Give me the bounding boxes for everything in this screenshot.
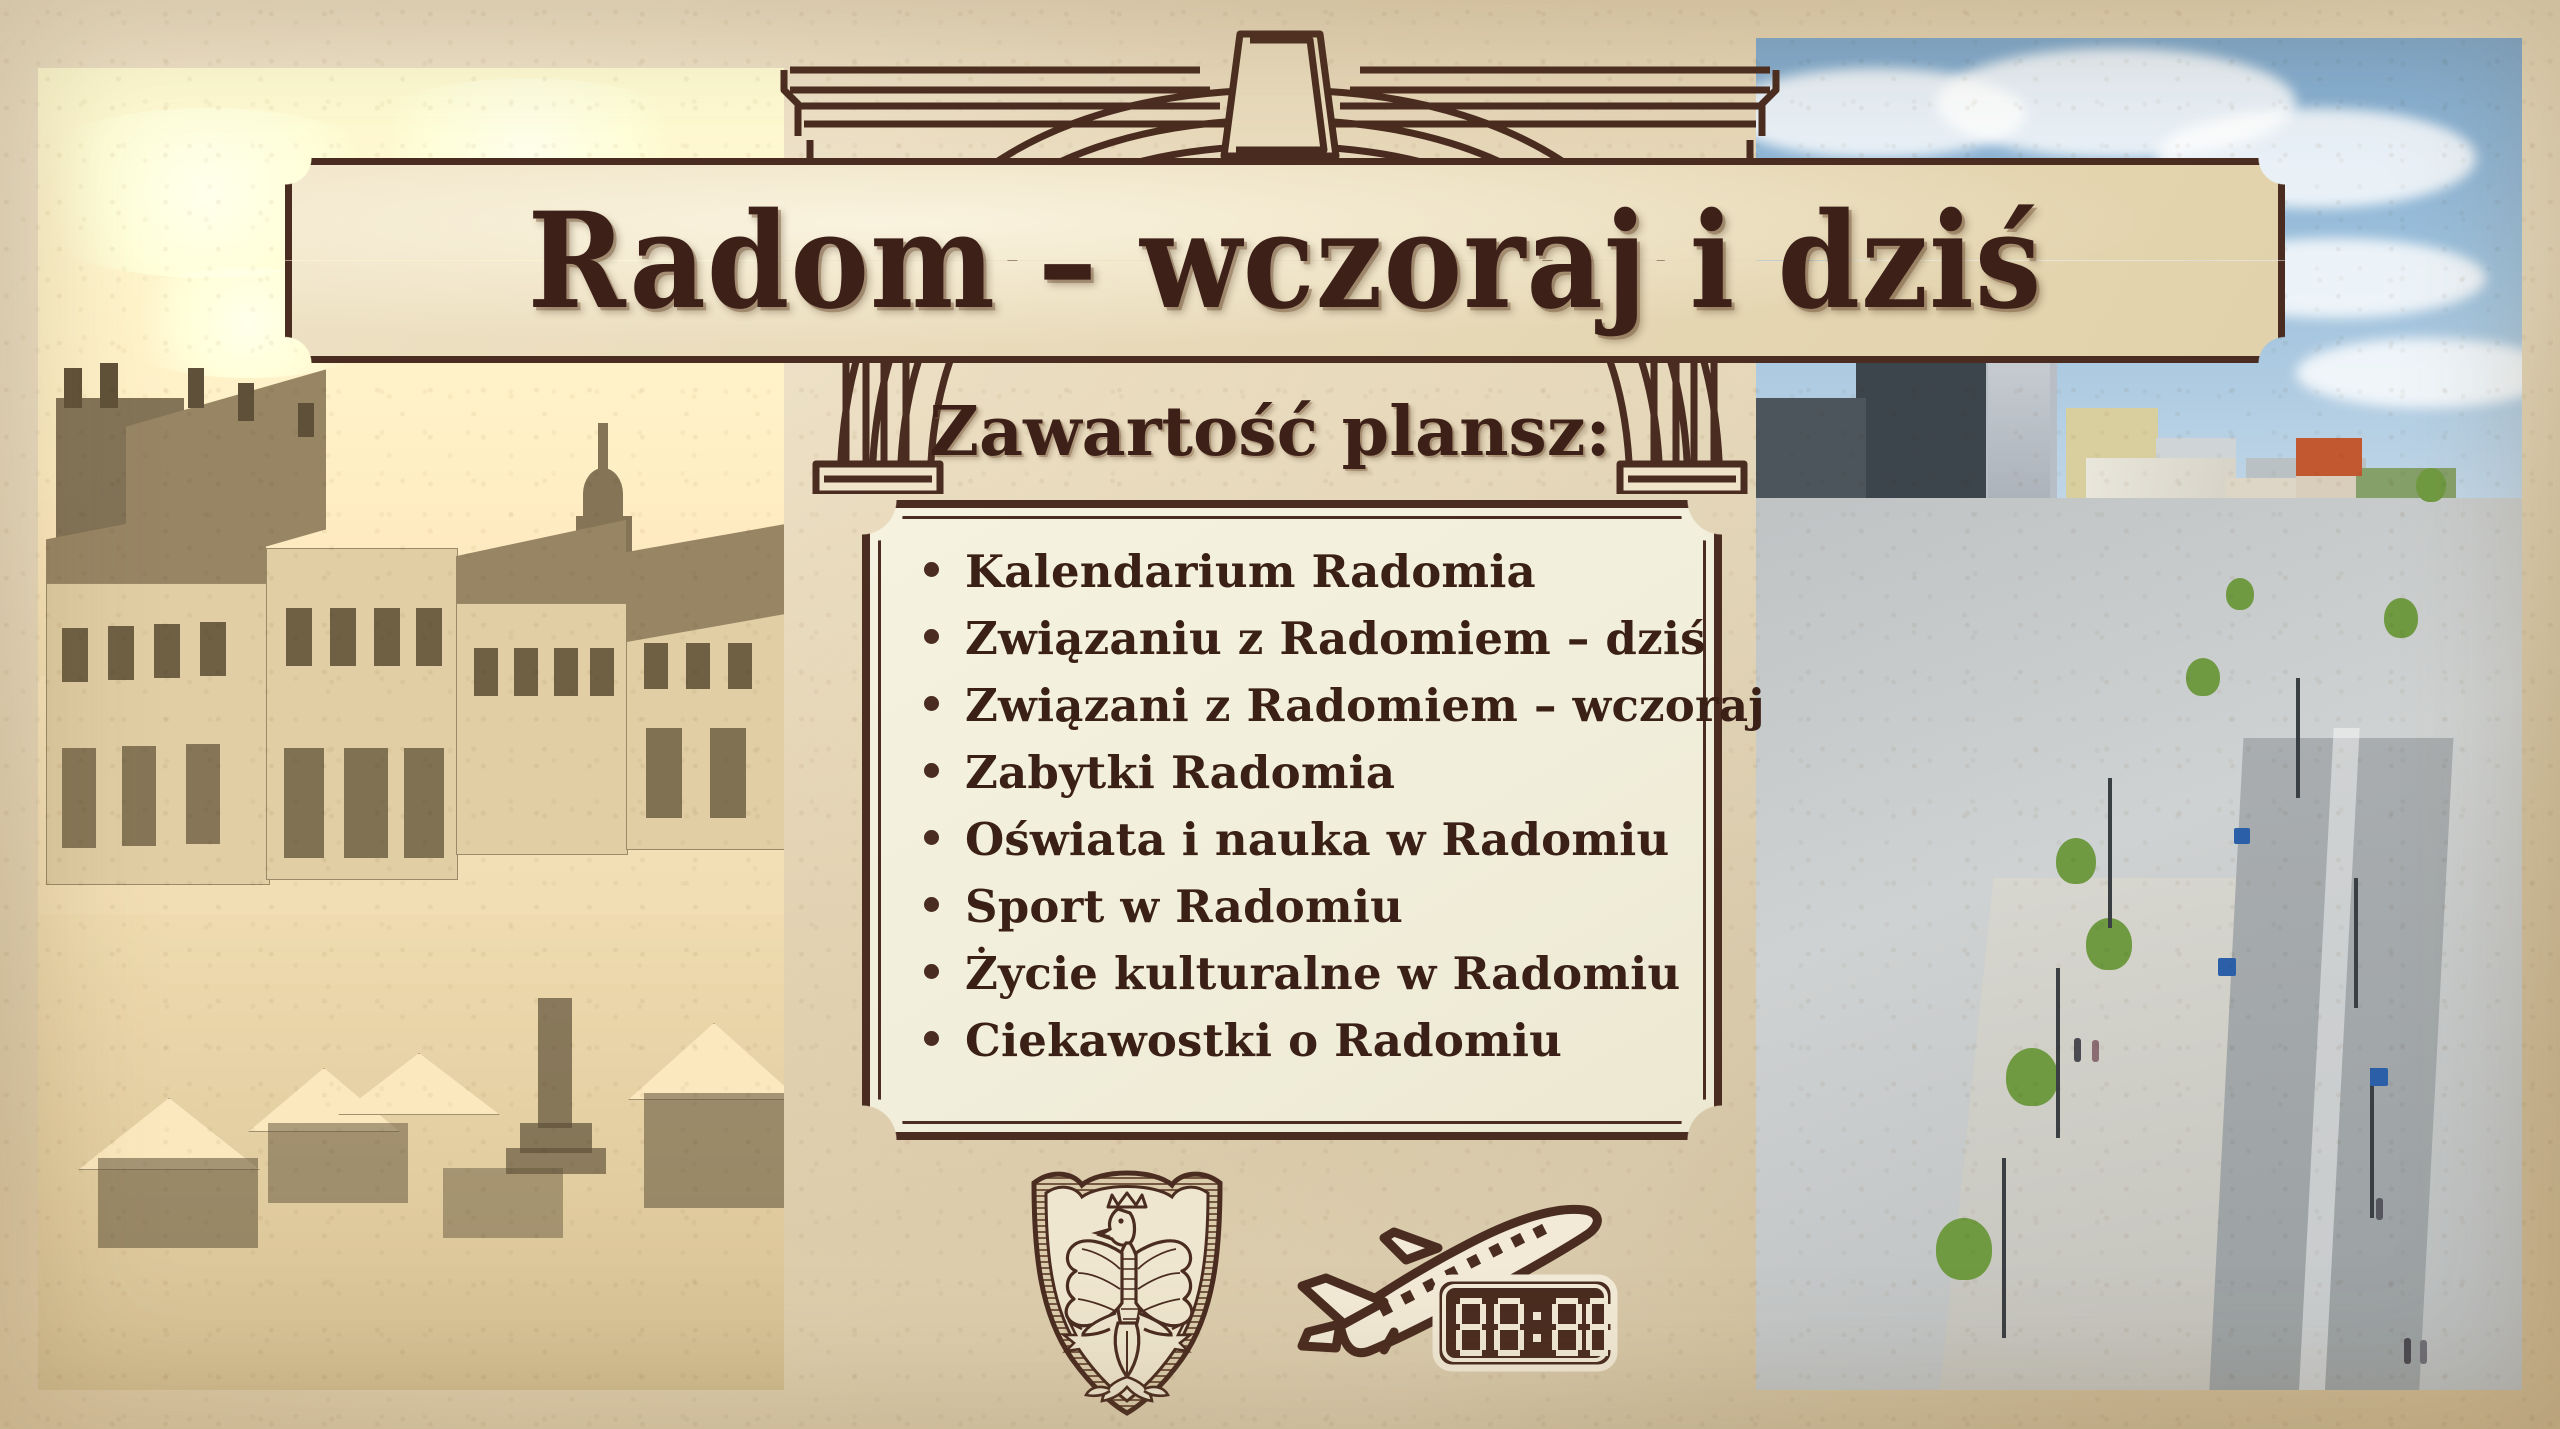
- coat-of-arms-icon: [1022, 1163, 1232, 1418]
- bullet-icon: [924, 696, 939, 711]
- list-item: Związaniu z Radomiem – dziś: [924, 605, 1698, 672]
- contents-heading: Zawartość plansz:: [870, 392, 1670, 472]
- contents-list: Kalendarium Radomia Związaniu z Radomiem…: [924, 538, 1698, 1074]
- contents-box: Kalendarium Radomia Związaniu z Radomiem…: [862, 500, 1722, 1140]
- list-item: Związani z Radomiem – wczoraj: [924, 672, 1698, 739]
- airplane-clock-icon: 00:00: [1288, 1182, 1623, 1377]
- poster-root: Radom – wczoraj i dziś Zawartość plansz:…: [0, 0, 2560, 1429]
- title-banner: Radom – wczoraj i dziś: [285, 158, 2285, 363]
- list-item: Kalendarium Radomia: [924, 538, 1698, 605]
- bullet-icon: [924, 763, 939, 778]
- bullet-icon: [924, 964, 939, 979]
- list-item: Życie kulturalne w Radomiu: [924, 940, 1698, 1007]
- list-item: Ciekawostki o Radomiu: [924, 1007, 1698, 1074]
- bullet-icon: [924, 830, 939, 845]
- bullet-icon: [924, 629, 939, 644]
- list-item: Sport w Radomiu: [924, 873, 1698, 940]
- page-title: Radom – wczoraj i dziś: [285, 146, 2285, 376]
- bullet-icon: [924, 1031, 939, 1046]
- list-item: Zabytki Radomia: [924, 739, 1698, 806]
- list-item: Oświata i nauka w Radomiu: [924, 806, 1698, 873]
- bullet-icon: [924, 562, 939, 577]
- bullet-icon: [924, 897, 939, 912]
